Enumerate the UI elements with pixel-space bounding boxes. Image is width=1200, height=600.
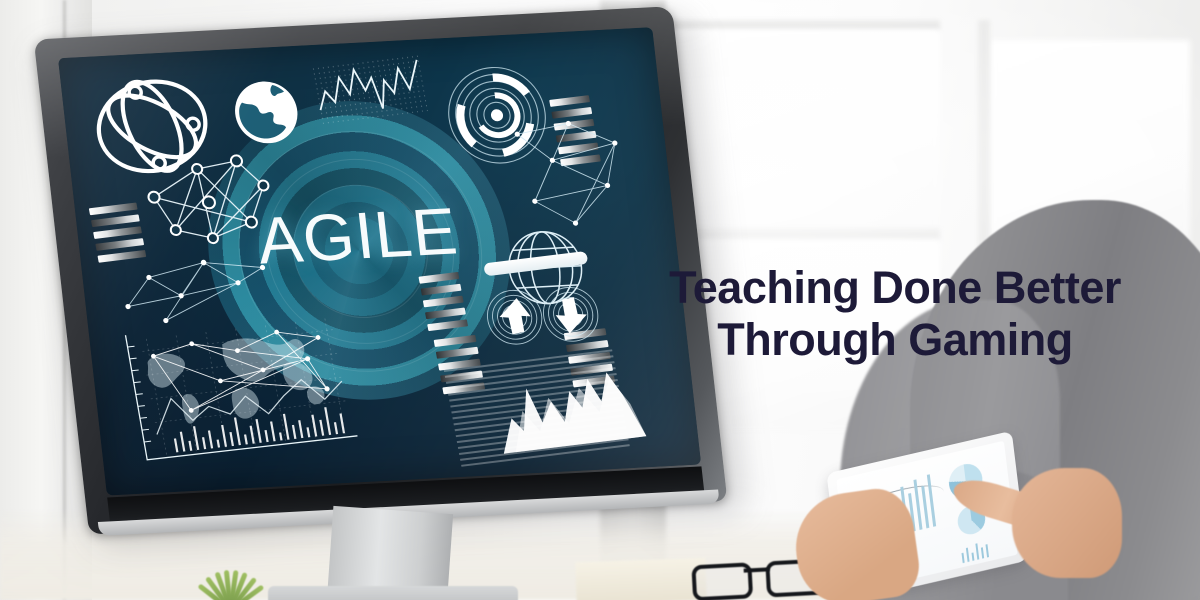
node-network-icon	[140, 151, 278, 249]
papers	[575, 558, 706, 600]
globe-filled-icon	[230, 78, 303, 147]
headline-line-1: Teaching Done Better	[669, 262, 1121, 313]
monitor-screen: AGILE	[58, 27, 701, 495]
hand-right	[1012, 468, 1122, 578]
headline-line-2: Through Gaming	[660, 314, 1130, 366]
arrow-down-circle-icon	[538, 284, 602, 345]
monitor-base	[268, 586, 518, 600]
world-map-network-icon	[115, 304, 367, 468]
arrow-up-circle-icon	[482, 287, 546, 348]
page-title: Teaching Done Better Through Gaming	[660, 262, 1130, 366]
area-mountain-chart-icon	[489, 353, 647, 455]
banner-image: AGILE	[0, 0, 1200, 600]
desktop-monitor: AGILE	[34, 6, 731, 544]
potted-plant	[168, 548, 288, 600]
